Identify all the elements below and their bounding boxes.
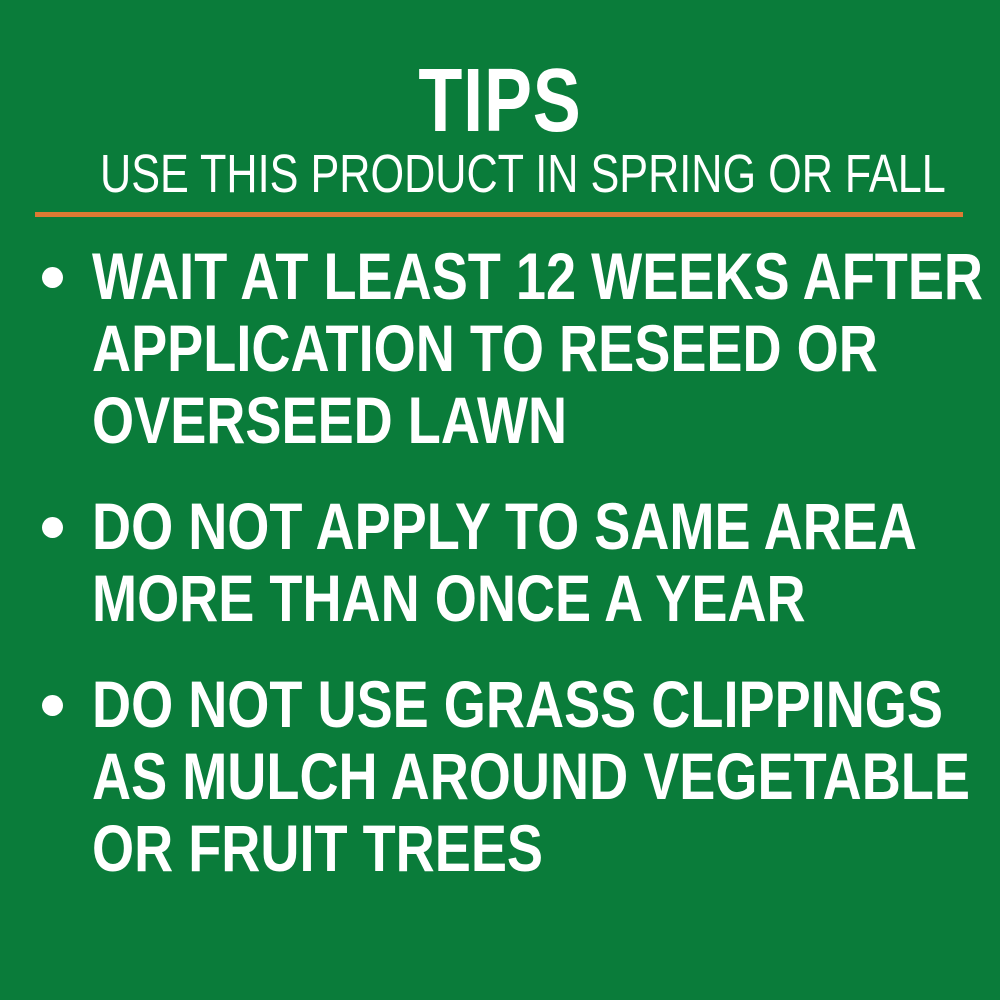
list-item: WAIT AT LEAST 12 WEEKS AFTER APPLICATION… xyxy=(0,240,1000,456)
bullet-point-icon xyxy=(42,267,63,288)
list-item-line: DO NOT USE GRASS CLIPPINGS xyxy=(92,668,820,740)
list-item-line: OVERSEED LAWN xyxy=(92,384,820,456)
list-item: DO NOT APPLY TO SAME AREA MORE THAN ONCE… xyxy=(0,490,1000,634)
page-title: TIPS xyxy=(100,56,900,146)
list-item-line: WAIT AT LEAST 12 WEEKS AFTER xyxy=(92,240,820,312)
list-item-line: OR FRUIT TREES xyxy=(92,812,820,884)
list-item: DO NOT USE GRASS CLIPPINGS AS MULCH AROU… xyxy=(0,668,1000,884)
bullet-point-icon xyxy=(42,695,63,716)
page-subtitle: USE THIS PRODUCT IN SPRING OR FALL xyxy=(100,146,900,202)
list-item-line: MORE THAN ONCE A YEAR xyxy=(92,562,820,634)
header-divider xyxy=(35,212,963,217)
bullet-point-icon xyxy=(42,517,63,538)
list-item-line: DO NOT APPLY TO SAME AREA xyxy=(92,490,820,562)
list-item-text: DO NOT USE GRASS CLIPPINGS AS MULCH AROU… xyxy=(92,668,1000,884)
tips-panel: TIPS USE THIS PRODUCT IN SPRING OR FALL … xyxy=(0,0,1000,1000)
list-item-text: DO NOT APPLY TO SAME AREA MORE THAN ONCE… xyxy=(92,490,1000,634)
tips-list: WAIT AT LEAST 12 WEEKS AFTER APPLICATION… xyxy=(0,240,1000,884)
list-item-text: WAIT AT LEAST 12 WEEKS AFTER APPLICATION… xyxy=(92,240,1000,456)
list-item-line: APPLICATION TO RESEED OR xyxy=(92,312,820,384)
list-item-line: AS MULCH AROUND VEGETABLE xyxy=(92,740,820,812)
